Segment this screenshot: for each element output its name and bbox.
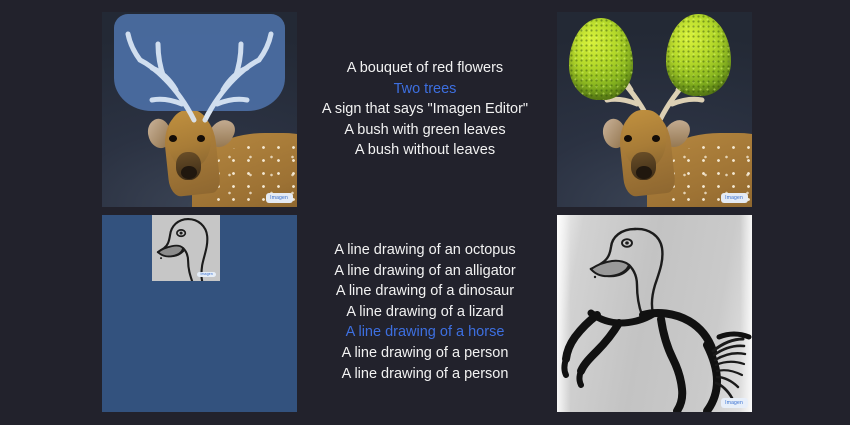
input-image-with-mask[interactable]: Imagen bbox=[102, 12, 297, 207]
prompt-item[interactable]: A line drawing of a person bbox=[270, 364, 580, 385]
imagen-watermark: Imagen bbox=[197, 272, 216, 277]
imagen-watermark: Imagen bbox=[721, 398, 748, 408]
prompt-item[interactable]: A bush with green leaves bbox=[270, 120, 580, 141]
prompt-item[interactable]: A sign that says "Imagen Editor" bbox=[270, 99, 580, 120]
prompt-item[interactable]: A line drawing of an octopus bbox=[270, 240, 580, 261]
antlers-over-mask bbox=[102, 12, 297, 207]
imagen-watermark: Imagen bbox=[721, 193, 748, 203]
edited-result-horse[interactable]: Imagen bbox=[557, 215, 752, 412]
prompt-item[interactable]: A line drawing of an alligator bbox=[270, 261, 580, 282]
deer-nose bbox=[636, 166, 652, 179]
prompt-list-bottom: A line drawing of an octopus A line draw… bbox=[270, 240, 580, 384]
prompt-item[interactable]: A bouquet of red flowers bbox=[270, 58, 580, 79]
prompt-item[interactable]: A line drawing of a dinosaur bbox=[270, 281, 580, 302]
topiary-tree-right bbox=[666, 14, 730, 96]
prompt-list-top: A bouquet of red flowers Two trees A sig… bbox=[270, 58, 580, 161]
tree-texture bbox=[666, 14, 730, 96]
deer-eye-right bbox=[652, 135, 660, 142]
prompt-item[interactable]: A bush without leaves bbox=[270, 140, 580, 161]
horse-line-drawing bbox=[557, 215, 752, 412]
prompt-item[interactable]: A line drawing of a lizard bbox=[270, 302, 580, 323]
prompt-item-selected[interactable]: Two trees bbox=[270, 79, 580, 100]
imagen-watermark: Imagen bbox=[266, 193, 293, 203]
prompt-item-selected[interactable]: A line drawing of a horse bbox=[270, 322, 580, 343]
edited-result-two-trees[interactable]: Imagen bbox=[557, 12, 752, 207]
screenshot-stage: Imagen bbox=[0, 0, 850, 425]
source-image-inset: Imagen bbox=[152, 215, 220, 281]
prompt-item[interactable]: A line drawing of a person bbox=[270, 343, 580, 364]
input-image-outpaint-canvas[interactable]: Imagen bbox=[102, 215, 297, 412]
